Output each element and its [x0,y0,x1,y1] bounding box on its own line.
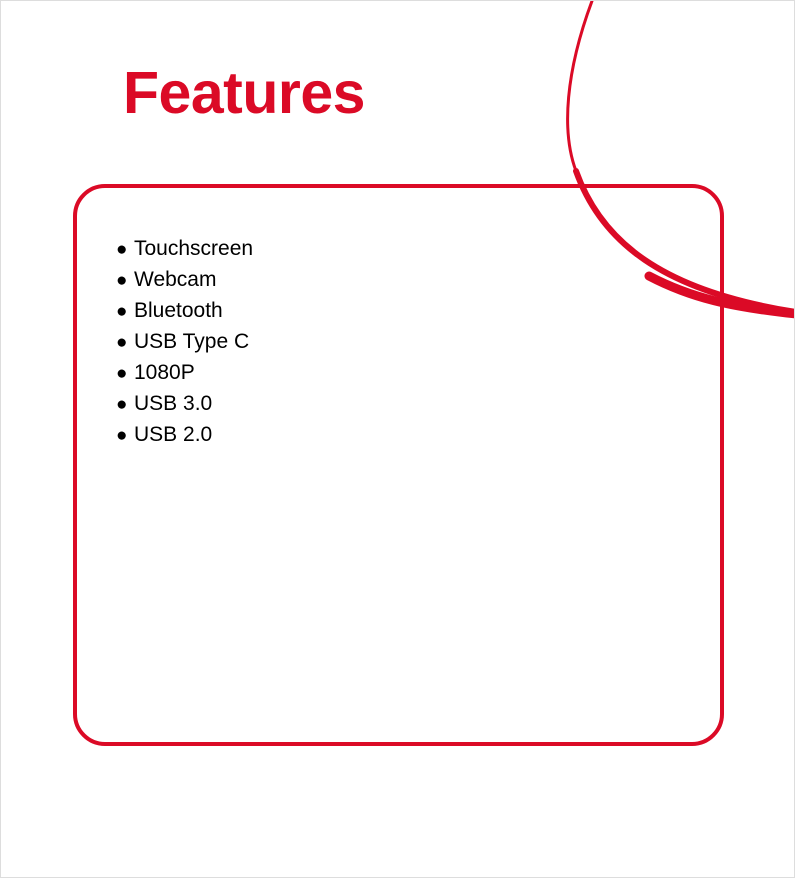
list-item: ● Webcam [116,268,253,299]
feature-label: USB Type C [134,330,249,354]
feature-label: USB 2.0 [134,423,212,447]
bullet-icon: ● [116,426,134,445]
list-item: ● USB Type C [116,330,253,361]
feature-label: Touchscreen [134,237,253,261]
list-item: ● USB 3.0 [116,392,253,423]
slide-page: Features ● Touchscreen ● Webcam ● Blueto… [0,0,795,878]
list-item: ● 1080P [116,361,253,392]
list-item: ● Bluetooth [116,299,253,330]
bullet-icon: ● [116,240,134,259]
feature-label: Webcam [134,268,216,292]
bullet-icon: ● [116,333,134,352]
feature-label: Bluetooth [134,299,223,323]
bullet-icon: ● [116,395,134,414]
bullet-icon: ● [116,364,134,383]
list-item: ● USB 2.0 [116,423,253,454]
page-title: Features [123,62,365,126]
feature-label: USB 3.0 [134,392,212,416]
list-item: ● Touchscreen [116,237,253,268]
bullet-icon: ● [116,302,134,321]
feature-label: 1080P [134,361,195,385]
bullet-icon: ● [116,271,134,290]
feature-list: ● Touchscreen ● Webcam ● Bluetooth ● USB… [116,237,253,454]
